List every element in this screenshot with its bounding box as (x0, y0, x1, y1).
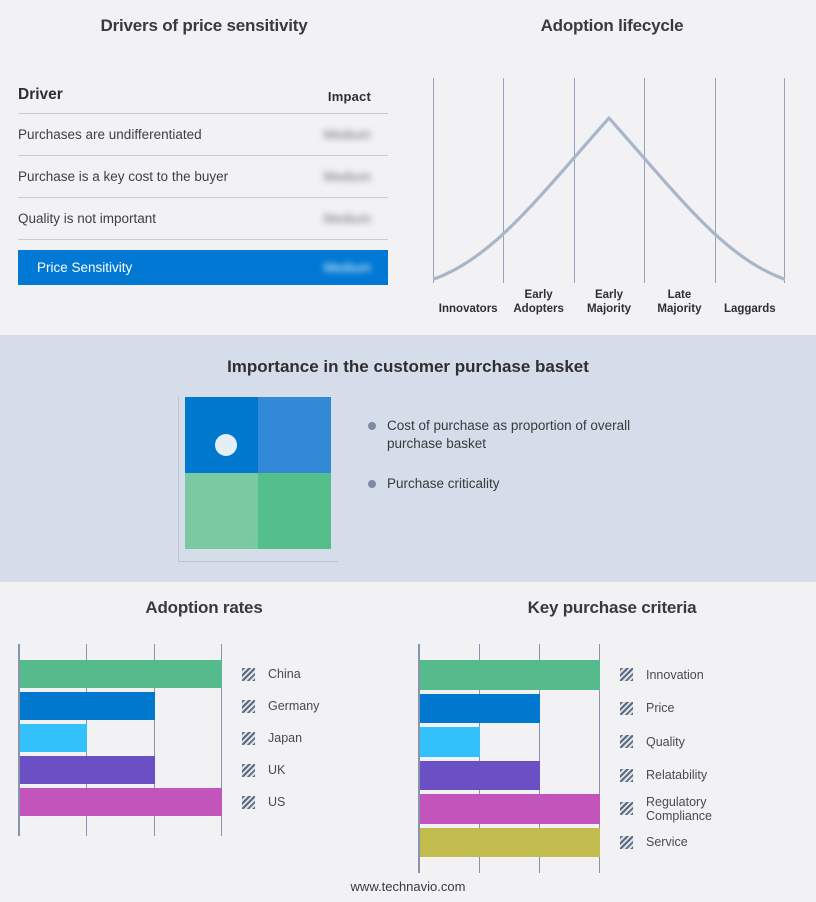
hatch-swatch-icon (620, 769, 633, 782)
lifecycle-stage-innovators: Innovators (433, 283, 503, 317)
bar (20, 692, 155, 720)
lifecycle-stage-early-adopters: Early Adopters (503, 283, 573, 317)
driver-label: Purchases are undifferentiated (18, 127, 202, 142)
hatch-swatch-icon (242, 700, 255, 713)
bar (420, 727, 480, 757)
list-item: Purchase criticality (368, 475, 658, 493)
price-sensitivity-highlight-row: Price Sensitivity Medium (18, 250, 388, 285)
bar-row (20, 658, 222, 690)
legend-item: Regulatory Compliance (620, 792, 712, 826)
quadrant-chart (178, 397, 338, 562)
hatch-swatch-icon (620, 668, 633, 681)
bar-row (20, 690, 222, 722)
adoption-rates-chart: ChinaGermanyJapanUKUS (18, 644, 222, 836)
bell-curve-line (433, 78, 785, 288)
column-header-impact: Impact (328, 89, 388, 104)
plot-area (18, 644, 222, 836)
legend-label: Cost of purchase as proportion of overal… (387, 417, 658, 453)
legend-label: UK (268, 763, 285, 777)
legend-label: Relatability (646, 768, 707, 782)
legend-item: Innovation (620, 658, 712, 692)
bar (420, 761, 540, 791)
hatch-swatch-icon (242, 668, 255, 681)
bar (20, 724, 87, 752)
criteria-title: Key purchase criteria (408, 582, 816, 618)
legend-label: Innovation (646, 668, 704, 682)
stage-label-line2: Majority (657, 303, 701, 317)
hatch-swatch-icon (620, 735, 633, 748)
quadrant-cell-bottom-right (258, 473, 331, 549)
drivers-panel-title: Drivers of price sensitivity (0, 0, 408, 36)
legend-label: Price (646, 701, 674, 715)
legend-item: China (242, 658, 319, 690)
impact-value: Medium (324, 127, 388, 142)
list-item: Cost of purchase as proportion of overal… (368, 417, 658, 453)
stage-label-line1: Late (668, 289, 692, 303)
stage-label-line1: Early (525, 289, 553, 303)
lifecycle-panel: Adoption lifecycle Innovators Early Ad (408, 0, 816, 335)
bar-row (20, 754, 222, 786)
driver-label: Price Sensitivity (37, 260, 132, 275)
bar (420, 660, 600, 690)
footer-url: www.technavio.com (0, 879, 816, 894)
bar-row (420, 792, 600, 826)
bar-row (420, 826, 600, 860)
impact-value: Medium (324, 211, 388, 226)
bar (20, 788, 222, 816)
table-row: Quality is not important Medium (18, 198, 388, 240)
drivers-panel: Drivers of price sensitivity Driver Impa… (0, 0, 408, 335)
legend-label: Japan (268, 731, 302, 745)
legend-item: Service (620, 826, 712, 860)
impact-value: Medium (324, 169, 388, 184)
lifecycle-stage-late-majority: Late Majority (644, 283, 714, 317)
bar-row (420, 658, 600, 692)
hatch-swatch-icon (620, 702, 633, 715)
stage-label-line1: Early (595, 289, 623, 303)
legend-item: Germany (242, 690, 319, 722)
bar (420, 694, 540, 724)
bar (20, 756, 155, 784)
highlight-dot-icon (215, 434, 237, 456)
quadrant-cell-bottom-left (185, 473, 258, 549)
driver-label: Purchase is a key cost to the buyer (18, 169, 228, 184)
bar (20, 660, 222, 688)
lifecycle-stage-laggards: Laggards (715, 283, 785, 317)
bullet-icon (368, 422, 376, 430)
bar (420, 828, 600, 858)
legend-item: Price (620, 692, 712, 726)
legend-item: Quality (620, 725, 712, 759)
driver-label: Quality is not important (18, 211, 156, 226)
legend-label: Purchase criticality (387, 475, 500, 493)
bullet-icon (368, 480, 376, 488)
legend-label: Quality (646, 735, 685, 749)
top-section: Drivers of price sensitivity Driver Impa… (0, 0, 816, 335)
hatch-swatch-icon (242, 764, 255, 777)
lifecycle-stage-early-majority: Early Majority (574, 283, 644, 317)
stage-label-line2: Majority (587, 303, 631, 317)
bottom-section: Adoption rates ChinaGermanyJapanUKUS Key… (0, 582, 816, 902)
table-row: Purchase is a key cost to the buyer Medi… (18, 156, 388, 198)
criteria-panel: Key purchase criteria InnovationPriceQua… (408, 582, 816, 902)
adoption-rates-panel: Adoption rates ChinaGermanyJapanUKUS (0, 582, 408, 902)
legend-label: Service (646, 835, 688, 849)
basket-legend: Cost of purchase as proportion of overal… (368, 417, 658, 515)
chart-legend: ChinaGermanyJapanUKUS (242, 658, 319, 818)
hatch-swatch-icon (620, 836, 633, 849)
lifecycle-stage-labels: Innovators Early Adopters Early Majority… (433, 283, 785, 317)
bar-row (420, 692, 600, 726)
chart-legend: InnovationPriceQualityRelatabilityRegula… (620, 658, 712, 859)
lifecycle-panel-title: Adoption lifecycle (408, 0, 816, 36)
bar-row (420, 759, 600, 793)
bar (420, 794, 600, 824)
bar-row (20, 786, 222, 818)
adoption-rates-title: Adoption rates (0, 582, 408, 618)
quadrant-grid (185, 397, 331, 549)
criteria-chart: InnovationPriceQualityRelatabilityRegula… (418, 644, 600, 873)
impact-value: Medium (324, 260, 388, 275)
quadrant-cell-top-right (258, 397, 331, 473)
column-header-driver: Driver (18, 86, 63, 104)
hatch-swatch-icon (242, 796, 255, 809)
purchase-basket-section: Importance in the customer purchase bask… (0, 335, 816, 582)
hatch-swatch-icon (242, 732, 255, 745)
plot-area (418, 644, 600, 873)
bar-row (420, 725, 600, 759)
legend-item: UK (242, 754, 319, 786)
hatch-swatch-icon (620, 802, 633, 815)
bar-row (20, 722, 222, 754)
stage-label-line2: Laggards (724, 303, 776, 317)
basket-panel-title: Importance in the customer purchase bask… (0, 335, 816, 377)
lifecycle-chart (433, 78, 785, 288)
drivers-table: Driver Impact Purchases are undifferenti… (18, 86, 388, 285)
legend-label: China (268, 667, 301, 681)
legend-item: Relatability (620, 759, 712, 793)
legend-label: Regulatory Compliance (646, 795, 712, 823)
table-row: Purchases are undifferentiated Medium (18, 114, 388, 156)
stage-label-line2: Innovators (439, 303, 498, 317)
legend-label: US (268, 795, 285, 809)
drivers-table-header: Driver Impact (18, 86, 388, 114)
stage-label-line2: Adopters (513, 303, 563, 317)
legend-label: Germany (268, 699, 319, 713)
legend-item: Japan (242, 722, 319, 754)
legend-item: US (242, 786, 319, 818)
